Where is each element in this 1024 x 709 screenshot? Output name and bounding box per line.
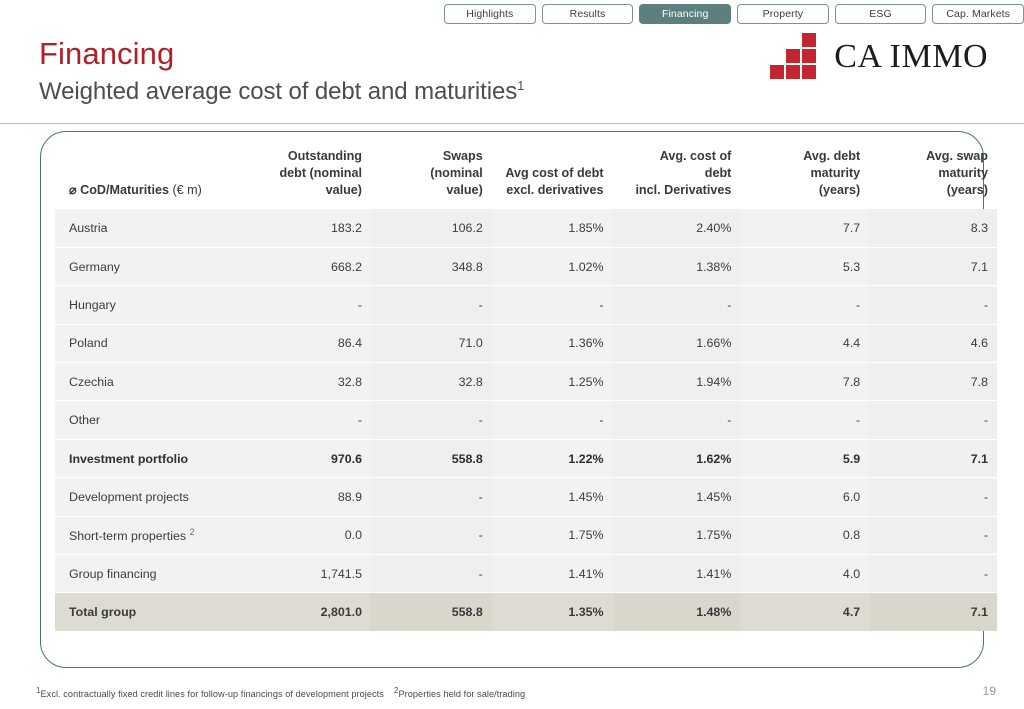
table-cell: 1.02% <box>492 247 613 285</box>
table-cell: 8.3 <box>869 209 997 247</box>
row-label-text: Austria <box>69 221 108 235</box>
table-cell: 7.1 <box>869 593 997 631</box>
table-cell: 32.8 <box>242 363 371 401</box>
table-cell: 7.1 <box>869 439 997 477</box>
col-header-diameter-symbol: ⌀ <box>69 183 77 197</box>
page-subtitle: Weighted average cost of debt and maturi… <box>39 78 524 106</box>
table-row: Czechia32.832.81.25%1.94%7.87.8 <box>55 363 997 401</box>
row-label-text: Hungary <box>69 298 116 312</box>
table-row: Germany668.2348.81.02%1.38%5.37.1 <box>55 247 997 285</box>
table-cell: - <box>242 286 371 324</box>
subtitle-footnote-marker: 1 <box>517 78 524 93</box>
row-label: Short-term properties 2 <box>55 516 242 554</box>
section-tabbar: HighlightsResultsFinancingPropertyESGCap… <box>444 4 1024 24</box>
tab-results[interactable]: Results <box>542 4 634 24</box>
table-row: Poland86.471.01.36%1.66%4.44.6 <box>55 324 997 362</box>
table-cell: 2,801.0 <box>242 593 371 631</box>
brand-logo-text: CA IMMO <box>834 38 988 76</box>
row-label-text: Group financing <box>69 567 156 581</box>
table-cell: 1.22% <box>492 439 613 477</box>
page-number: 19 <box>983 684 996 698</box>
table-cell: 0.0 <box>242 516 371 554</box>
table-cell: 1.94% <box>613 363 741 401</box>
col-header-avg-swap-maturity: Avg. swapmaturity(years) <box>869 148 997 209</box>
col-header-outstanding-debt: Outstandingdebt (nominalvalue) <box>242 148 371 209</box>
col-header-avg-cost-incl: Avg. cost ofdebtincl. Derivatives <box>613 148 741 209</box>
table-cell: - <box>613 401 741 439</box>
table-cell: - <box>371 401 492 439</box>
col-header-line: Avg. debt <box>749 148 860 165</box>
row-label: Czechia <box>55 363 242 401</box>
table-row: Development projects88.9-1.45%1.45%6.0- <box>55 478 997 516</box>
table-cell: - <box>869 401 997 439</box>
row-label-text: Germany <box>69 260 120 274</box>
table-cell: 1.85% <box>492 209 613 247</box>
table-cell: 1.36% <box>492 324 613 362</box>
table-cell: 668.2 <box>242 247 371 285</box>
table-cell: 348.8 <box>371 247 492 285</box>
table-cell: 7.8 <box>740 363 869 401</box>
cod-maturities-table: ⌀ CoD/Maturities (€ m) Outstandingdebt (… <box>55 148 997 631</box>
page-subtitle-text: Weighted average cost of debt and maturi… <box>39 78 517 105</box>
row-footnote-marker: 2 <box>190 527 195 537</box>
col-header-label-unit: (€ m) <box>172 183 201 197</box>
row-label-text: Development projects <box>69 490 189 504</box>
table-cell: 1.41% <box>492 555 613 593</box>
row-label-text: Short-term properties <box>69 529 186 543</box>
table-cell: 6.0 <box>740 478 869 516</box>
row-label-text: Czechia <box>69 375 114 389</box>
table-cell: 4.6 <box>869 324 997 362</box>
col-header-line: value) <box>380 182 483 199</box>
table-row: Other------ <box>55 401 997 439</box>
row-label-text: Investment portfolio <box>69 452 188 466</box>
table-cell: - <box>869 286 997 324</box>
table-cell: 86.4 <box>242 324 371 362</box>
col-header-line: Avg. cost of <box>622 148 732 165</box>
table-cell: 558.8 <box>371 439 492 477</box>
table-cell: 1.62% <box>613 439 741 477</box>
col-header-line: Avg. swap <box>878 148 988 165</box>
page-title: Financing <box>39 36 174 72</box>
col-header-line: (years) <box>878 182 988 199</box>
row-label: Development projects <box>55 478 242 516</box>
table-cell: 5.3 <box>740 247 869 285</box>
row-label: Hungary <box>55 286 242 324</box>
table-cell: 183.2 <box>242 209 371 247</box>
col-header-line: debt <box>622 165 732 182</box>
table-cell: 1.41% <box>613 555 741 593</box>
table-cell: 88.9 <box>242 478 371 516</box>
table-cell: 970.6 <box>242 439 371 477</box>
footnotes: 1Excl. contractually fixed credit lines … <box>36 686 525 699</box>
table-header: ⌀ CoD/Maturities (€ m) Outstandingdebt (… <box>55 148 997 209</box>
table-cell: 1.75% <box>613 516 741 554</box>
table-cell: - <box>371 478 492 516</box>
col-header-line: maturity <box>749 165 860 182</box>
table-cell: - <box>492 401 613 439</box>
col-header-line: Swaps <box>380 148 483 165</box>
col-header-line: (nominal <box>380 165 483 182</box>
table-cell: 5.9 <box>740 439 869 477</box>
table-cell: - <box>740 401 869 439</box>
table-cell: 4.4 <box>740 324 869 362</box>
table-cell: - <box>869 555 997 593</box>
col-header-line: Outstanding <box>251 148 362 165</box>
col-header-label-main: CoD/Maturities <box>80 183 169 197</box>
row-label: Germany <box>55 247 242 285</box>
col-header-line: maturity <box>878 165 988 182</box>
table-cell: 1.45% <box>613 478 741 516</box>
table-cell: - <box>869 516 997 554</box>
table-cell: 1.75% <box>492 516 613 554</box>
table-cell: 7.8 <box>869 363 997 401</box>
table-cell: 1.45% <box>492 478 613 516</box>
table-cell: - <box>371 516 492 554</box>
table-cell: - <box>869 478 997 516</box>
table-cell: 7.7 <box>740 209 869 247</box>
row-label: Group financing <box>55 555 242 593</box>
table-cell: 32.8 <box>371 363 492 401</box>
row-label: Poland <box>55 324 242 362</box>
ca-immo-blocks-icon <box>770 34 820 80</box>
table-cell: 7.1 <box>869 247 997 285</box>
table-cell: 1.38% <box>613 247 741 285</box>
tab-property[interactable]: Property <box>737 4 829 24</box>
table-row: Group financing1,741.5-1.41%1.41%4.0- <box>55 555 997 593</box>
row-label-text: Other <box>69 413 100 427</box>
tab-cap-markets[interactable]: Cap. Markets <box>932 4 1024 24</box>
table-cell: 0.8 <box>740 516 869 554</box>
table-body: Austria183.2106.21.85%2.40%7.78.3Germany… <box>55 209 997 631</box>
footnote-1-text: Excl. contractually fixed credit lines f… <box>41 689 384 699</box>
table-cell: - <box>242 401 371 439</box>
table-row: Short-term properties 20.0-1.75%1.75%0.8… <box>55 516 997 554</box>
col-header-avg-cost-excl: Avg cost of debtexcl. derivatives <box>492 148 613 209</box>
table-cell: 106.2 <box>371 209 492 247</box>
table-cell: - <box>740 286 869 324</box>
brand-logo: CA IMMO <box>770 34 988 80</box>
tab-financing[interactable]: Financing <box>639 4 731 24</box>
table-header-row: ⌀ CoD/Maturities (€ m) Outstandingdebt (… <box>55 148 997 209</box>
col-header-line: incl. Derivatives <box>622 182 732 199</box>
table-cell: - <box>371 555 492 593</box>
table-cell: 1.48% <box>613 593 741 631</box>
table-cell: - <box>492 286 613 324</box>
table-cell: 4.0 <box>740 555 869 593</box>
table-cell: - <box>613 286 741 324</box>
row-label: Other <box>55 401 242 439</box>
row-label: Investment portfolio <box>55 439 242 477</box>
tab-highlights[interactable]: Highlights <box>444 4 536 24</box>
table-cell: 71.0 <box>371 324 492 362</box>
table-panel: ⌀ CoD/Maturities (€ m) Outstandingdebt (… <box>40 131 984 668</box>
row-label: Total group <box>55 593 242 631</box>
table-row: Total group2,801.0558.81.35%1.48%4.77.1 <box>55 593 997 631</box>
footnote-2-text: Properties held for sale/trading <box>398 689 525 699</box>
row-label-text: Total group <box>69 605 136 619</box>
col-header-line: value) <box>251 182 362 199</box>
table-cell: 1.35% <box>492 593 613 631</box>
col-header-line: excl. derivatives <box>501 182 604 199</box>
col-header-line: debt (nominal <box>251 165 362 182</box>
tab-esg[interactable]: ESG <box>835 4 927 24</box>
table-cell: 1.66% <box>613 324 741 362</box>
col-header-avg-debt-maturity: Avg. debtmaturity(years) <box>740 148 869 209</box>
table-cell: - <box>371 286 492 324</box>
col-header-label: ⌀ CoD/Maturities (€ m) <box>55 148 242 209</box>
table-cell: 558.8 <box>371 593 492 631</box>
table-row: Hungary------ <box>55 286 997 324</box>
header-divider <box>0 123 1024 124</box>
row-label-text: Poland <box>69 336 108 350</box>
table-row: Investment portfolio970.6558.81.22%1.62%… <box>55 439 997 477</box>
table-cell: 1,741.5 <box>242 555 371 593</box>
table-cell: 4.7 <box>740 593 869 631</box>
table-cell: 2.40% <box>613 209 741 247</box>
row-label: Austria <box>55 209 242 247</box>
col-header-swaps: Swaps(nominalvalue) <box>371 148 492 209</box>
table-row: Austria183.2106.21.85%2.40%7.78.3 <box>55 209 997 247</box>
col-header-line: Avg cost of debt <box>501 165 604 182</box>
slide-root: HighlightsResultsFinancingPropertyESGCap… <box>0 0 1024 709</box>
col-header-line: (years) <box>749 182 860 199</box>
table-cell: 1.25% <box>492 363 613 401</box>
